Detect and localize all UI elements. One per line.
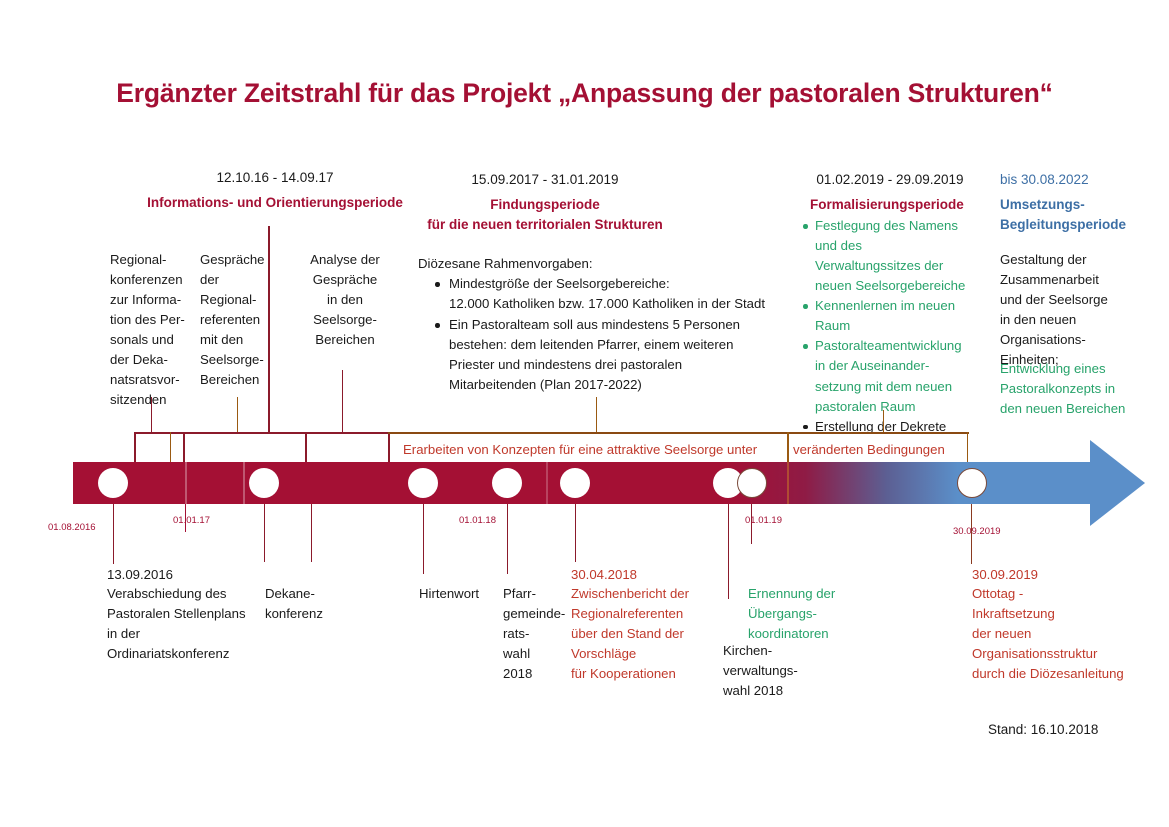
drop-hirtenwort — [423, 504, 424, 574]
drop-pfarrgemeinderatswahl — [507, 504, 508, 574]
findung-bullet-2: Ein Pastoralteam soll aus mindestens 5 P… — [432, 315, 792, 395]
bar-tick-2017 — [185, 462, 187, 504]
bracket-1-left-drop — [134, 432, 136, 462]
bar-tick-2018 — [546, 462, 548, 504]
node-pfarrgemeinderatswahl[interactable] — [492, 468, 522, 498]
stem-findung-center — [596, 397, 597, 432]
event-text-ottotag: Ottotag - Inkraftsetzung der neuen Organ… — [972, 584, 1167, 684]
bracket-1-right-drop — [388, 432, 390, 462]
node-hirtenwort[interactable] — [408, 468, 438, 498]
findung-bullet-list: Mindestgröße der Seelsorgebereiche: 12.0… — [432, 274, 792, 395]
event-date-ottotag: 30.09.2019 — [972, 565, 1162, 585]
event-text-ernennung: Ernennung der Übergangs- koordinatoren — [748, 584, 878, 644]
bracket-1-inner-drop-a — [170, 432, 171, 462]
event-text-kirchenverwaltungswahl: Kirchen- verwaltungs- wahl 2018 — [723, 641, 833, 701]
event-text-dekanekonferenz: Dekane- konferenz — [265, 584, 327, 624]
drop-13-09-2016 — [264, 504, 265, 562]
drop-30-04-2018 — [575, 504, 576, 562]
period-title-umsetzung-line2: Begleitungsperiode — [1000, 216, 1165, 234]
period-title-findung-line1: Findungsperiode — [400, 196, 690, 214]
node-30-09-2019[interactable] — [957, 468, 987, 498]
bracket-1-inner-drop-c — [305, 432, 307, 462]
formalisierung-bullet-2: Kennenlernen im neuen Raum — [800, 296, 990, 336]
banner-text-part1: Erarbeiten von Konzepten für eine attrak… — [403, 442, 757, 457]
axis-date-01-01-17: 01.01.17 — [173, 515, 210, 526]
node-kirchenverwaltungswahl[interactable] — [737, 468, 767, 498]
period-date-umsetzung: bis 30.08.2022 — [1000, 172, 1160, 189]
column-gespraeche-regionalreferenten: Gespräche der Regional- referenten mit d… — [200, 250, 292, 390]
formalisierung-bullet-1: Festlegung des Namens und des Verwaltung… — [800, 216, 990, 296]
bracket-3-left-drop — [788, 432, 789, 462]
umsetzung-black-text: Gestaltung der Zusammenarbeit und der Se… — [1000, 250, 1168, 370]
axis-date-01-08-2016: 01.08.2016 — [48, 522, 96, 533]
period-date-formalisierung: 01.02.2019 - 29.09.2019 — [795, 172, 985, 189]
axis-date-01-01-19: 01.01.19 — [745, 515, 782, 526]
node-13-09-2016[interactable] — [249, 468, 279, 498]
page-title: Ergänzter Zeitstrahl für das Projekt „An… — [0, 78, 1169, 109]
divider-informations-left — [268, 226, 270, 432]
findung-intro: Diözesane Rahmenvorgaben: — [418, 254, 788, 274]
period-title-informations: Informations- und Orientierungsperiode — [110, 194, 440, 212]
stand-footer: Stand: 16.10.2018 — [988, 722, 1098, 737]
findung-bullet-1: Mindestgröße der Seelsorgebereiche: 12.0… — [432, 274, 792, 314]
bracket-2-top — [388, 432, 788, 434]
banner-text-part2: veränderten Bedingungen — [793, 442, 945, 457]
node-30-04-2018[interactable] — [560, 468, 590, 498]
stem-analyse — [342, 370, 343, 432]
event-date-zwischenbericht: 30.04.2018 — [571, 565, 741, 585]
formalisierung-bullet-list: Festlegung des Namens und des Verwaltung… — [800, 216, 990, 437]
bracket-1-top — [134, 432, 390, 434]
formalisierung-bullet-4: Erstellung der Dekrete — [800, 417, 990, 437]
event-date-verabschiedung: 13.09.2016 — [107, 565, 267, 585]
period-date-findung: 15.09.2017 - 31.01.2019 — [400, 172, 690, 189]
axis-date-30-09-2019: 30.09.2019 — [953, 526, 1001, 537]
period-date-informations: 12.10.16 - 14.09.17 — [150, 170, 400, 187]
axis-date-01-01-18: 01.01.18 — [459, 515, 496, 526]
stem-formalisierung — [883, 410, 884, 432]
event-text-zwischenbericht: Zwischenbericht der Regionalreferenten ü… — [571, 584, 741, 684]
stem-regionalkonferenzen — [151, 397, 152, 432]
formalisierung-bullet-3: Pastoralteamentwicklung in der Auseinand… — [800, 336, 990, 416]
node-01-08-2016[interactable] — [98, 468, 128, 498]
bracket-3-top — [788, 432, 969, 434]
bracket-1-inner-drop-b — [183, 432, 185, 462]
column-analyse-der-gespraeche: Analyse der Gespräche in den Seelsorge- … — [295, 250, 395, 350]
period-title-formalisierung: Formalisierungsperiode — [795, 196, 1000, 214]
event-text-verabschiedung: Verabschiedung des Pastoralen Stellenpla… — [107, 584, 267, 664]
drop-dekanekonferenz — [311, 504, 312, 562]
period-title-umsetzung-line1: Umsetzungs- — [1000, 196, 1165, 214]
event-text-pfarrgemeinderatswahl: Pfarr- gemeinde- rats- wahl 2018 — [503, 584, 571, 684]
column-regionalkonferenzen: Regional- konferenzen zur Informa- tion … — [110, 250, 202, 411]
timeline-arrow-head — [1090, 440, 1145, 526]
bar-tick-b — [243, 462, 245, 504]
period-title-findung-line2: für die neuen territorialen Strukturen — [400, 216, 690, 234]
event-text-hirtenwort: Hirtenwort — [419, 584, 499, 604]
stem-gespraeche — [237, 397, 238, 432]
drop-01-08-2016 — [113, 504, 114, 564]
bracket-3-right-drop — [967, 432, 968, 462]
umsetzung-green-text: Entwicklung eines Pastoralkonzepts in de… — [1000, 359, 1168, 419]
bar-tick-2019 — [787, 462, 789, 504]
